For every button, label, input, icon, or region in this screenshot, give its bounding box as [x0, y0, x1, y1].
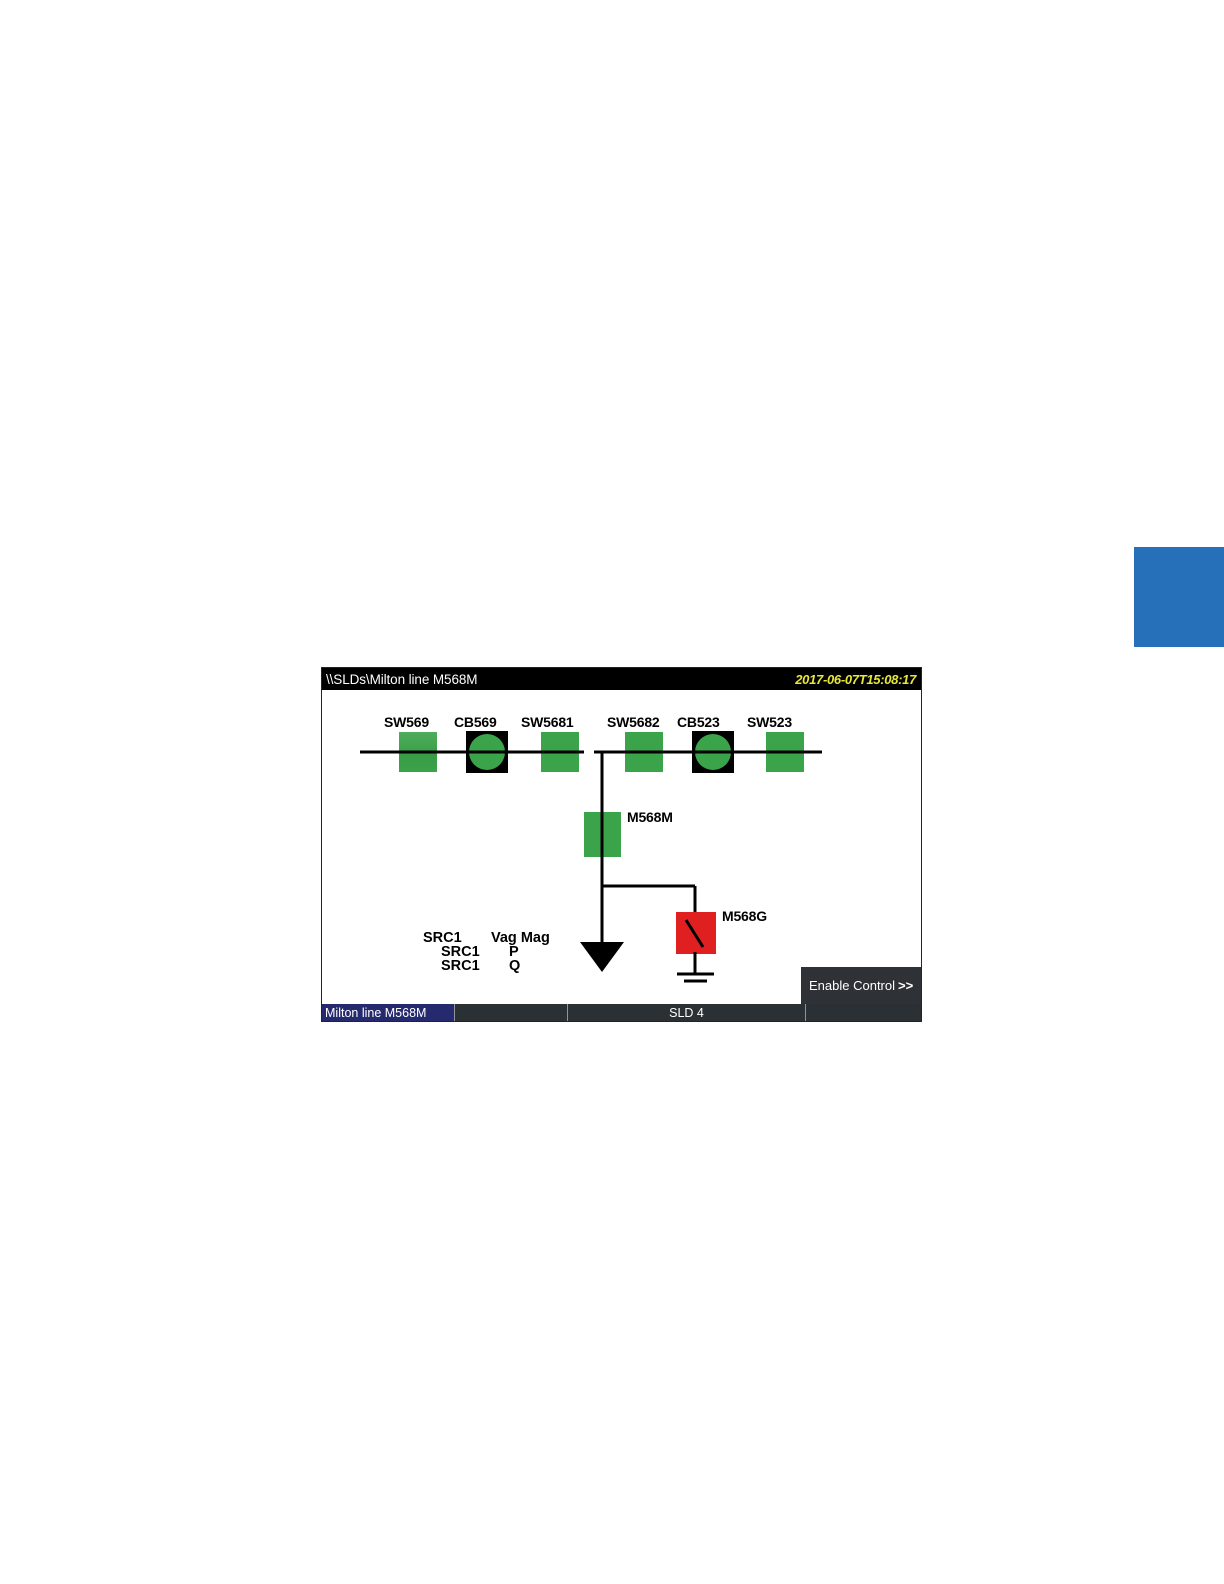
status-bar: Milton line M568M SLD 4: [322, 1004, 921, 1021]
measurement-quantity: Q: [509, 959, 520, 973]
device-label-sw5681: SW5681: [521, 714, 574, 730]
hmi-window: \\SLDs\Milton line M568M 2017-06-07T15:0…: [321, 667, 922, 1022]
breadcrumb-path: \\SLDs\Milton line M568M: [326, 672, 477, 687]
measurement-source: SRC1: [441, 945, 509, 959]
timestamp: 2017-06-07T15:08:17: [795, 672, 916, 687]
measurement-quantity: Vag Mag: [491, 931, 550, 945]
status-cell-active[interactable]: Milton line M568M: [322, 1004, 455, 1021]
measurement-source: SRC1: [423, 931, 491, 945]
device-label-m568g: M568G: [722, 908, 767, 924]
single-line-diagram-canvas[interactable]: SW569 CB569 SW5681 SW5682 CB523 SW523 M5…: [322, 690, 921, 1004]
device-m568g-body[interactable]: [676, 912, 716, 954]
measurement-readout-group: SRC1 Vag Mag SRC1 P SRC1 Q: [423, 931, 550, 973]
enable-control-button[interactable]: Enable Control >>: [801, 967, 921, 1004]
device-label-sw569: SW569: [384, 714, 429, 730]
page-margin-tab: [1134, 547, 1224, 647]
status-cell-spare[interactable]: [806, 1004, 921, 1021]
load-arrow-icon: [580, 942, 624, 972]
measurement-row: SRC1 P: [441, 945, 550, 959]
status-cell-secondary[interactable]: [455, 1004, 568, 1021]
chevron-right-double-icon: >>: [898, 978, 913, 993]
device-label-cb523: CB523: [677, 714, 720, 730]
device-label-cb569: CB569: [454, 714, 497, 730]
measurement-quantity: P: [509, 945, 519, 959]
measurement-row: SRC1 Vag Mag: [423, 931, 550, 945]
device-label-sw523: SW523: [747, 714, 792, 730]
measurement-row: SRC1 Q: [441, 959, 550, 973]
title-bar: \\SLDs\Milton line M568M 2017-06-07T15:0…: [322, 668, 921, 690]
enable-control-label: Enable Control: [809, 978, 895, 993]
measurement-source: SRC1: [441, 959, 509, 973]
sld-graphics: [322, 690, 921, 989]
status-cell-sld-page[interactable]: SLD 4: [568, 1004, 806, 1021]
device-label-m568m: M568M: [627, 809, 673, 825]
device-label-sw5682: SW5682: [607, 714, 660, 730]
